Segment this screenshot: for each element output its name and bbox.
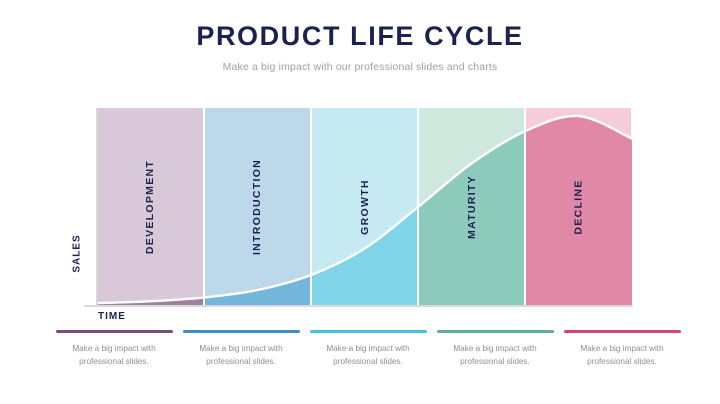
caption-text: Make a big impact with professional slid… xyxy=(561,342,683,369)
caption-row: Make a big impact with professional slid… xyxy=(0,330,720,390)
caption-text: Make a big impact with professional slid… xyxy=(434,342,556,369)
y-axis-line xyxy=(96,108,98,307)
caption-text: Make a big impact with professional slid… xyxy=(307,342,429,369)
sales-curve xyxy=(98,108,632,305)
caption-text: Make a big impact with professional slid… xyxy=(180,342,302,369)
x-axis-label: TIME xyxy=(98,311,126,322)
caption-maturity: Make a big impact with professional slid… xyxy=(434,330,556,369)
caption-development: Make a big impact with professional slid… xyxy=(53,330,175,369)
caption-growth: Make a big impact with professional slid… xyxy=(307,330,429,369)
caption-accent-rule xyxy=(56,330,173,333)
caption-text: Make a big impact with professional slid… xyxy=(53,342,175,369)
page-subtitle: Make a big impact with our professional … xyxy=(0,61,720,73)
life-cycle-chart: DEVELOPMENT INTRODUCTION GROWTH MATURITY… xyxy=(98,108,632,305)
caption-accent-rule xyxy=(183,330,300,333)
caption-introduction: Make a big impact with professional slid… xyxy=(180,330,302,369)
x-axis-line xyxy=(84,305,633,307)
page-title: PRODUCT LIFE CYCLE xyxy=(0,22,720,52)
caption-accent-rule xyxy=(437,330,554,333)
caption-accent-rule xyxy=(310,330,427,333)
y-axis-label: SALES xyxy=(58,243,80,261)
caption-accent-rule xyxy=(564,330,681,333)
header: PRODUCT LIFE CYCLE Make a big impact wit… xyxy=(0,22,720,73)
caption-decline: Make a big impact with professional slid… xyxy=(561,330,683,369)
